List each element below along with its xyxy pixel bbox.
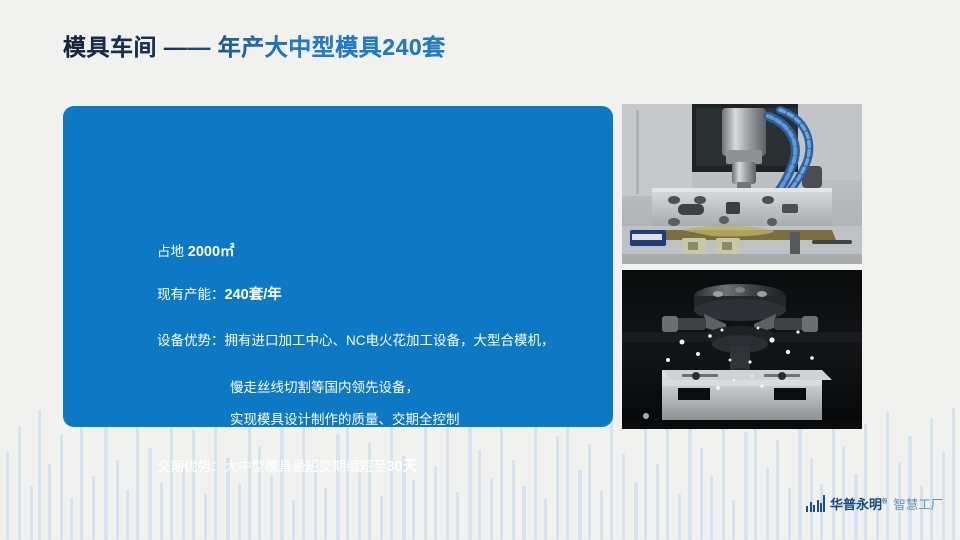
page-title: 模具车间 —— 年产大中型模具240套 — [63, 28, 446, 62]
decor-bar — [578, 470, 582, 540]
decor-bar — [92, 476, 95, 540]
decor-bar — [48, 464, 51, 540]
panel-line-capacity: 现有产能：240套/年 — [157, 288, 282, 303]
decor-bar — [678, 494, 681, 540]
decor-bar — [886, 412, 889, 540]
decor-bar — [456, 492, 459, 540]
decor-bar — [38, 410, 41, 540]
decor-bar — [324, 488, 327, 540]
decor-bar — [656, 464, 659, 540]
decor-bar — [700, 448, 703, 540]
decor-bar — [302, 412, 305, 540]
decor-bar — [270, 476, 273, 540]
decor-bar — [556, 436, 559, 540]
decor-bar — [490, 478, 493, 540]
decor-bar — [148, 448, 152, 540]
decor-bar — [126, 490, 129, 540]
decor-bar — [412, 480, 415, 540]
decor-bar — [710, 476, 713, 540]
decor-bar — [522, 486, 526, 540]
decor-bar — [468, 414, 472, 540]
decor-bar — [214, 416, 217, 540]
panel-line-leadtime: 交期优势：大中型模具最短交期缩短至30天 — [157, 460, 417, 475]
cnc-milling-illustration — [622, 104, 862, 264]
decor-bar — [744, 432, 748, 540]
decor-bar — [182, 468, 185, 540]
decor-bar — [512, 460, 515, 540]
logo-trademark: ® — [882, 499, 887, 506]
decor-bar — [930, 418, 933, 540]
panel-line-area-label: 占地 — [157, 244, 188, 259]
panel-line-capacity-value: 240套/年 — [225, 287, 282, 303]
panel-line-leadtime-value: 30天 — [387, 459, 418, 475]
panel-line-leadtime-label: 交期优势：大中型模具最短交期缩短至 — [157, 459, 387, 474]
logo-brand-name: 华普永明® — [830, 494, 887, 513]
decor-bar — [788, 488, 791, 540]
decor-bar — [390, 418, 393, 540]
decor-bar — [30, 486, 33, 540]
decor-bar — [610, 416, 613, 540]
decor-bar — [776, 440, 779, 540]
info-panel: 占地 2000㎡ 现有产能：240套/年 设备优势：拥有进口加工中心、NC电火花… — [63, 106, 613, 427]
decor-bar — [358, 472, 361, 540]
decor-bar — [566, 408, 569, 540]
decor-bar — [116, 460, 119, 540]
decor-bar — [732, 500, 735, 540]
decor-bar — [798, 414, 802, 540]
decor-bar — [644, 412, 647, 540]
decor-bar — [544, 498, 547, 540]
panel-line-equipment-cont1: 慢走丝线切割等国内领先设备， — [230, 381, 419, 395]
decor-bar — [424, 410, 427, 540]
logo-mark-icon — [806, 495, 825, 512]
decor-bar — [766, 468, 769, 540]
decor-bar — [754, 410, 757, 540]
decor-bar — [160, 482, 163, 540]
decor-bar — [18, 426, 21, 540]
decor-bar — [952, 408, 955, 540]
decor-bar — [192, 430, 195, 540]
decor-bar — [478, 450, 481, 540]
panel-line-area: 占地 2000㎡ — [157, 245, 235, 260]
decor-bar — [280, 424, 284, 540]
decor-bar — [238, 484, 241, 540]
panel-line-area-value: 2000㎡ — [188, 244, 235, 260]
decor-bar — [204, 494, 207, 540]
decor-bar — [622, 454, 625, 540]
panel-line-capacity-label: 现有产能： — [157, 287, 225, 302]
panel-line-equipment-cont2: 实现模具设计制作的质量、交期全控制 — [230, 413, 460, 427]
decor-bar — [666, 426, 669, 540]
decor-bar — [534, 422, 537, 540]
decor-bar — [336, 434, 340, 540]
decor-bar — [446, 428, 449, 540]
decor-bar — [70, 498, 73, 540]
decor-bar — [864, 424, 867, 540]
decor-bar — [588, 444, 591, 540]
photo-cnc-spindle-dark — [622, 270, 862, 429]
cnc-spindle-illustration — [622, 270, 862, 429]
decor-bar — [600, 490, 603, 540]
logo-sub-name: 智慧工厂 — [893, 494, 943, 513]
decor-bar — [722, 420, 725, 540]
photo-cnc-milling-coolant — [622, 104, 862, 264]
decor-bar — [842, 446, 845, 540]
decor-bar — [368, 442, 371, 540]
decor-bar — [634, 482, 638, 540]
decor-bar — [104, 420, 108, 540]
decor-bar — [380, 496, 383, 540]
decor-bar — [6, 452, 9, 540]
decor-bar — [292, 500, 295, 540]
company-logo: 华普永明® 智慧工厂 — [806, 494, 943, 513]
decor-bar — [908, 436, 912, 540]
decor-bar — [434, 466, 437, 540]
decor-bar — [136, 414, 139, 540]
slide-root: 模具车间 —— 年产大中型模具240套 模具车间 —— 年产大中型模具240套 … — [0, 0, 960, 540]
panel-line-equipment: 设备优势：拥有进口加工中心、NC电火花加工设备，大型合模机， — [157, 334, 555, 348]
decor-bar — [60, 434, 63, 540]
